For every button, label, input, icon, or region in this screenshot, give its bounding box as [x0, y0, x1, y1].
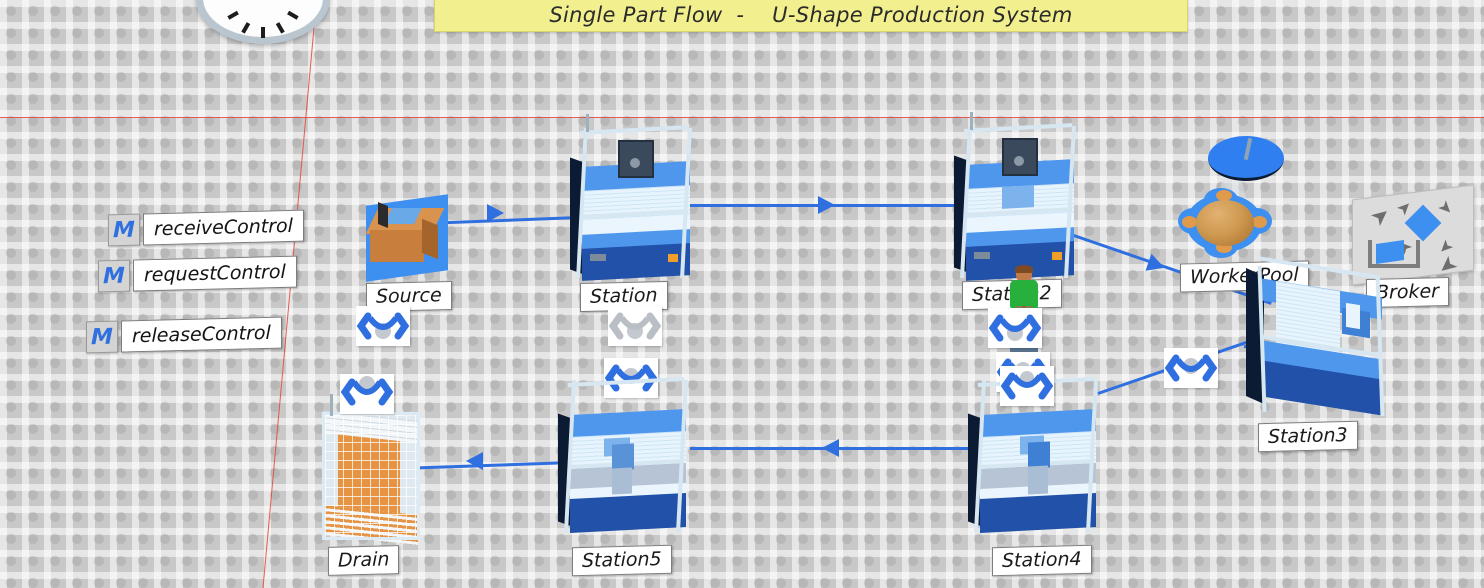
port-connector-icon-source[interactable] [356, 306, 410, 346]
method-label-receive-control: receiveControl [143, 210, 304, 246]
axis-line-vertical [258, 0, 317, 588]
port-connector-icon-drain[interactable] [340, 374, 394, 414]
flow-arrow-station2-station3 [1146, 254, 1168, 277]
workpiece [1002, 185, 1034, 209]
axis-line-horizontal [0, 117, 1484, 118]
port-connector-icon-station-inactive[interactable] [608, 306, 662, 346]
object-worker-pool[interactable] [1172, 132, 1292, 262]
flow-arrow-station-station2 [818, 196, 835, 214]
method-badge-icon: M [98, 260, 130, 293]
flow-arrow-source-station [487, 204, 504, 222]
flow-arrow-station4-station5 [822, 439, 839, 457]
object-station[interactable] [568, 114, 696, 282]
method-label-release-control: releaseControl [121, 317, 282, 353]
port-connector-icon-station2[interactable] [988, 308, 1042, 348]
method-badge-icon: M [86, 321, 118, 354]
method-label-request-control: requestControl [133, 256, 297, 292]
worker-pool-core [1196, 200, 1254, 246]
analog-clock-icon [196, 0, 330, 44]
method-row-request-control[interactable]: M requestControl [98, 256, 297, 293]
method-badge-icon: M [108, 214, 140, 247]
object-station2[interactable] [952, 112, 1080, 282]
object-station3[interactable] [1246, 266, 1392, 422]
object-drain[interactable] [318, 398, 428, 548]
method-row-receive-control[interactable]: M receiveControl [108, 210, 304, 247]
method-row-release-control[interactable]: M releaseControl [86, 317, 282, 354]
simulation-canvas[interactable]: Single Part Flow - U-Shape Production Sy… [0, 0, 1484, 588]
object-station5[interactable] [556, 376, 694, 538]
port-connector-icon-station3[interactable] [1164, 348, 1218, 388]
port-connector-icon-station4[interactable] [1000, 366, 1054, 406]
label-station5: Station5 [572, 545, 672, 576]
label-drain: Drain [328, 545, 399, 576]
label-station3: Station3 [1258, 421, 1358, 452]
label-station4: Station4 [992, 545, 1092, 576]
flow-arrow-station5-drain [466, 452, 483, 470]
object-source[interactable] [356, 186, 460, 290]
page-title: Single Part Flow - U-Shape Production Sy… [434, 0, 1188, 32]
